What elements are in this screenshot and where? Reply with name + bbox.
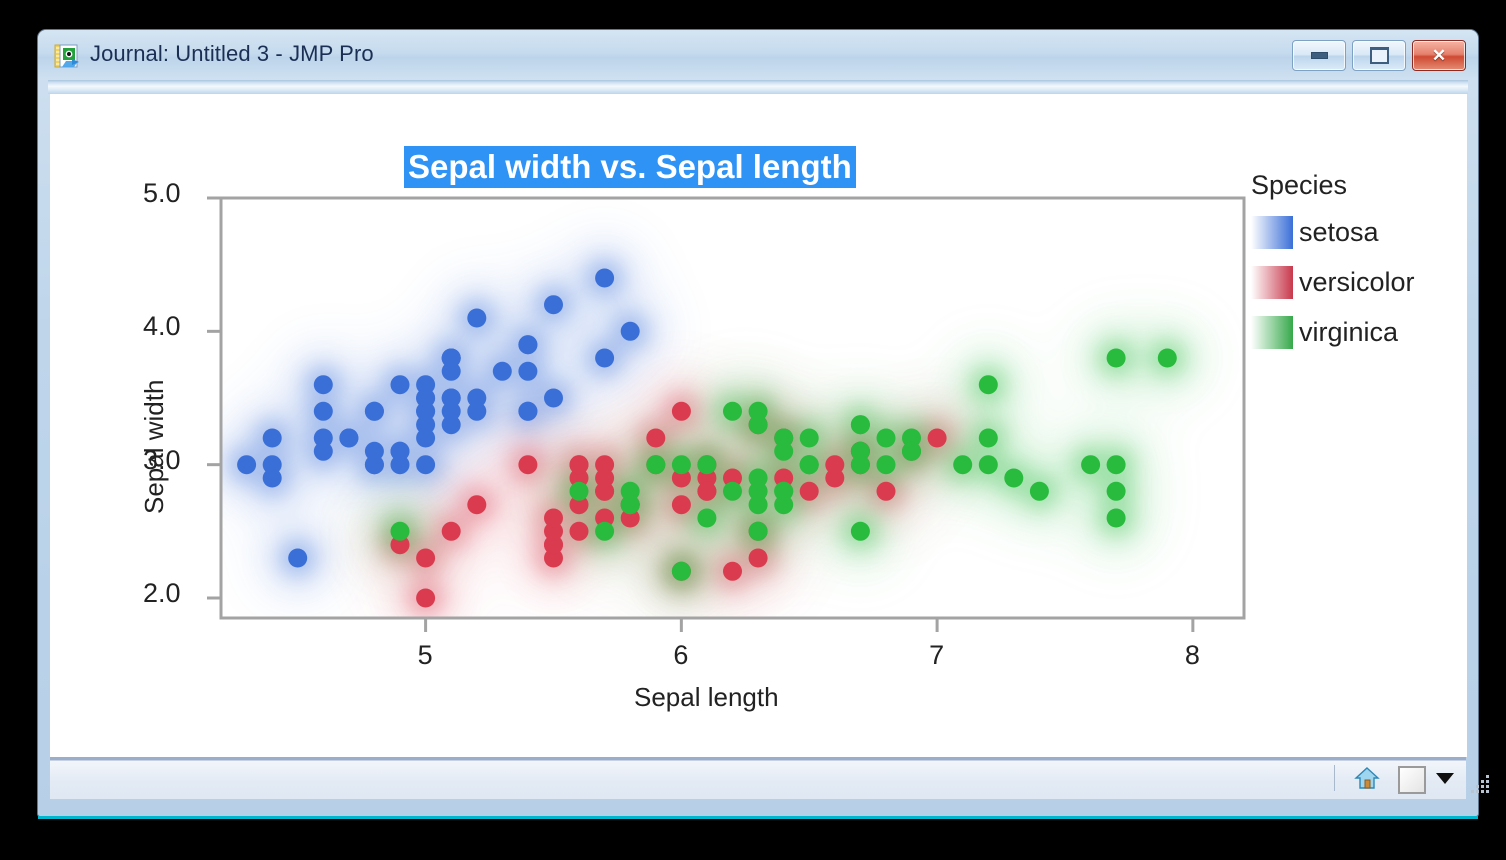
- window-controls: ✕: [1292, 40, 1466, 71]
- resize-grip-icon[interactable]: [1470, 773, 1492, 793]
- x-axis-label: Sepal length: [634, 682, 779, 713]
- close-icon: ✕: [1432, 47, 1446, 64]
- screen: Journal: Untitled 3 - JMP Pro ✕ Sepal wi…: [0, 0, 1506, 860]
- y-tick-label: 4.0: [143, 311, 181, 342]
- y-tick-label: 3.0: [143, 445, 181, 476]
- x-tick-label: 8: [1185, 640, 1200, 671]
- close-button[interactable]: ✕: [1412, 40, 1466, 71]
- x-tick-label: 6: [673, 640, 688, 671]
- title-bar[interactable]: Journal: Untitled 3 - JMP Pro ✕: [38, 30, 1478, 80]
- x-tick-label: 5: [418, 640, 433, 671]
- maximize-icon: [1370, 47, 1389, 64]
- legend-swatch-virginica: [1251, 316, 1293, 349]
- toolbar-strip: [48, 80, 1468, 94]
- legend-item-setosa[interactable]: setosa: [1251, 216, 1379, 249]
- x-tick-label: 7: [929, 640, 944, 671]
- home-icon[interactable]: [1354, 765, 1380, 791]
- legend-label-versicolor: versicolor: [1299, 267, 1415, 298]
- legend-title: Species: [1251, 170, 1347, 201]
- y-tick-label: 5.0: [143, 178, 181, 209]
- legend-item-virginica[interactable]: virginica: [1251, 316, 1398, 349]
- minimize-button[interactable]: [1292, 40, 1346, 71]
- journal-icon: [54, 43, 80, 69]
- window-title: Journal: Untitled 3 - JMP Pro: [90, 41, 374, 67]
- legend-label-setosa: setosa: [1299, 217, 1379, 248]
- legend-swatch-versicolor: [1251, 266, 1293, 299]
- document-area: Sepal width vs. Sepal lengthSepal length…: [50, 94, 1467, 757]
- chevron-down-icon[interactable]: [1436, 773, 1454, 784]
- legend-label-virginica: virginica: [1299, 317, 1398, 348]
- legend-item-versicolor[interactable]: versicolor: [1251, 266, 1415, 299]
- status-bar: [50, 757, 1466, 799]
- window-bottom-accent: [38, 816, 1478, 819]
- maximize-button[interactable]: [1352, 40, 1406, 71]
- status-separator: [1334, 765, 1335, 791]
- window-icon[interactable]: [1398, 766, 1426, 794]
- y-tick-label: 2.0: [143, 578, 181, 609]
- legend-swatch-setosa: [1251, 216, 1293, 249]
- minimize-icon: [1311, 52, 1328, 59]
- chart-title: Sepal width vs. Sepal length: [404, 146, 856, 188]
- application-window: Journal: Untitled 3 - JMP Pro ✕ Sepal wi…: [38, 30, 1478, 816]
